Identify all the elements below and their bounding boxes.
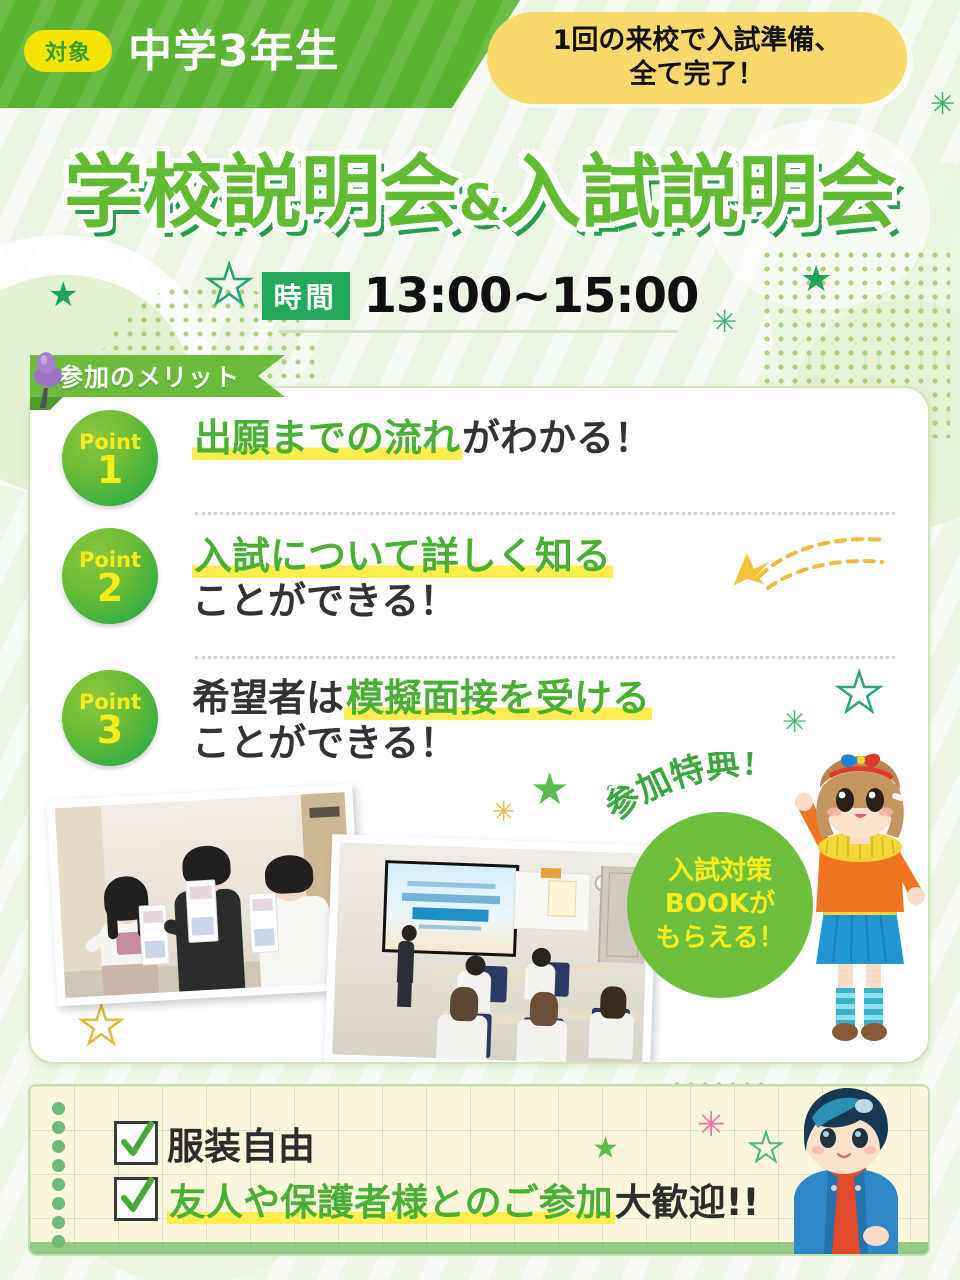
point-badge-number: 1 (97, 451, 123, 489)
boy-character-illustration (768, 1088, 918, 1254)
photo-presenter-body (397, 941, 415, 984)
merit-point-2-text: 入試について詳しく知る ことができる！ (192, 528, 613, 624)
merit-divider (195, 512, 895, 515)
time-value: 13:00~15:00 (364, 268, 699, 324)
point-badge-number: 3 (97, 711, 123, 749)
point-2-highlight: 入試について詳しく知る (192, 534, 613, 578)
point-badge-2: Point 2 (62, 528, 158, 624)
svg-text:参加特典！: 参加特典！ (604, 752, 776, 829)
point-3-plain-pre: 希望者は (192, 676, 344, 720)
note-box: 服装自由 友人や保護者様とのご参加大歓迎!! (28, 1084, 930, 1256)
checkbox-icon (114, 1177, 158, 1221)
photo-students-brochures (46, 784, 363, 1007)
title-part-2: 入試説明会 (501, 146, 896, 239)
title-ampersand: & (459, 174, 502, 232)
photo-wall-poster (547, 880, 576, 917)
note-item-1-text: 服装自由 (167, 1116, 315, 1170)
point-1-highlight: 出願までの流れ (192, 416, 462, 460)
shooting-star-icon (730, 530, 895, 610)
target-audience-value: 中学3年生 (128, 16, 340, 88)
note-item-2: 友人や保護者様とのご参加大歓迎!! (114, 1172, 759, 1226)
title-part-1: 学校説明会 (64, 146, 459, 239)
photo-wall-sign (541, 868, 561, 879)
note-item-1: 服装自由 (114, 1116, 315, 1170)
girl-character-illustration (780, 750, 940, 1050)
note-item-2-highlight: 友人や保護者様とのご参加 (167, 1181, 615, 1224)
checkbox-icon (114, 1121, 158, 1165)
point-1-plain: がわかる！ (462, 416, 652, 460)
note-item-2-group: 友人や保護者様とのご参加大歓迎!! (167, 1172, 759, 1226)
bonus-line-1: 入試対策 (668, 855, 772, 888)
point-badge-3: Point 3 (62, 670, 158, 766)
photo-door-handle (309, 806, 340, 818)
photo-student (588, 1012, 634, 1060)
note-spiral-binding (52, 1102, 68, 1238)
point-3-plain: ことができる！ (192, 721, 457, 765)
photo-inner (55, 792, 355, 998)
header-banner: 対象 中学3年生 1回の来校で入試準備、 全て完了！ (0, 0, 960, 108)
promise-callout: 1回の来校で入試準備、 全て完了！ (487, 12, 907, 104)
merit-point-1-text: 出願までの流れがわかる！ (192, 410, 652, 461)
promise-line-2: 全て完了！ (630, 58, 765, 92)
photo-student-head (529, 991, 558, 1026)
page-title: 学校説明会&入試説明会 (0, 128, 960, 244)
merit-point-2: Point 2 入試について詳しく知る ことができる！ (62, 528, 613, 624)
bonus-line-2: BOOKが (665, 888, 775, 921)
photo-classroom-presentation (324, 834, 658, 1064)
point-badge-number: 2 (97, 569, 123, 607)
time-label: 時間 (262, 272, 350, 320)
star-outline-icon: ★ (835, 666, 883, 720)
bonus-line-3: もらえる！ (655, 922, 784, 955)
photo-inner (332, 842, 650, 1064)
star-icon: ★ (592, 1134, 619, 1164)
target-audience-label: 対象 (45, 35, 91, 67)
time-divider (278, 330, 678, 333)
merit-ribbon-label: 参加のメリット (58, 358, 240, 394)
sparkle-icon: ✳ (697, 1108, 726, 1142)
promise-line-1: 1回の来校で入試準備、 (553, 24, 842, 58)
star-outline-icon: ★ (748, 1128, 784, 1168)
sparkle-icon: ✳ (782, 708, 807, 738)
point-3-highlight: 模擬面接を受ける (344, 676, 652, 720)
photo-student-head (450, 987, 479, 1022)
pushpin-icon (26, 340, 72, 410)
sparkle-icon: ✳ (492, 798, 515, 826)
merit-point-3: Point 3 希望者は模擬面接を受ける ことができる！ (62, 670, 652, 766)
photo-student (436, 1014, 488, 1064)
point-badge-1: Point 1 (62, 410, 158, 506)
photo-presenter-legs (397, 981, 412, 1007)
note-item-2-plain: 大歓迎!! (615, 1181, 760, 1224)
merit-point-1: Point 1 出願までの流れがわかる！ (62, 410, 652, 506)
event-time: 時間 13:00~15:00 (0, 268, 960, 324)
photo-student-head (600, 986, 627, 1019)
merit-divider (195, 656, 895, 659)
target-audience-badge: 対象 (24, 30, 112, 72)
point-2-plain: ことができる！ (192, 579, 457, 623)
merit-point-3-text: 希望者は模擬面接を受ける ことができる！ (192, 670, 652, 766)
star-outline-icon: ★ (78, 1000, 125, 1052)
star-icon: ★ (530, 768, 569, 812)
